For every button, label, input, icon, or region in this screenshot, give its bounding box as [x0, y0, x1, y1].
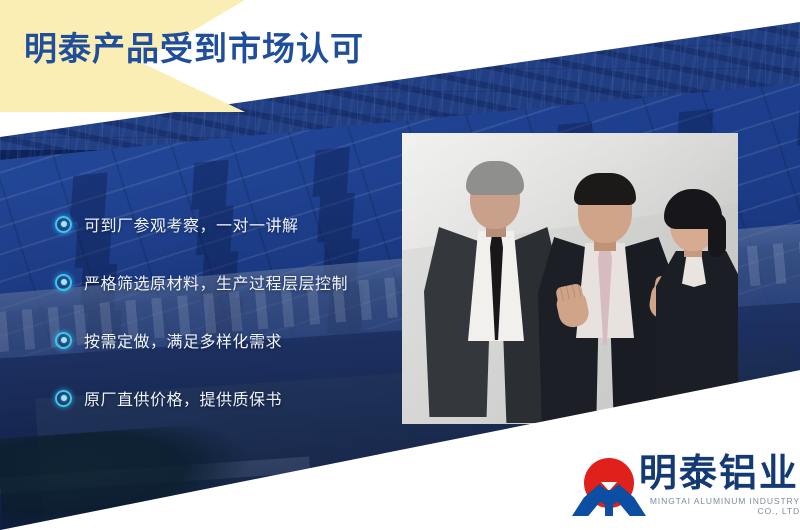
list-item: 按需定做，满足多样化需求	[55, 328, 395, 352]
company-name-cn: 明泰铝业	[639, 454, 800, 492]
feature-text: 按需定做，满足多样化需求	[84, 328, 282, 352]
hair	[466, 161, 524, 195]
page-title: 明泰产品受到市场认可	[24, 22, 364, 70]
target-dot-icon	[55, 332, 72, 349]
logo-text-block: 明泰铝业 MINGTAI ALUMINUM INDUSTRY CO., LTD	[639, 454, 800, 516]
target-dot-icon	[55, 216, 72, 233]
feature-list: 可到厂参观考察，一对一讲解 严格筛选原材料，生产过程层层控制 按需定做，满足多样…	[55, 212, 395, 444]
target-dot-icon	[55, 274, 72, 291]
feature-text: 可到厂参观考察，一对一讲解	[84, 212, 299, 236]
list-item: 可到厂参观考察，一对一讲解	[55, 212, 395, 236]
list-item: 原厂直供价格，提供质保书	[55, 386, 395, 410]
hair	[574, 173, 636, 205]
mountain-stem	[605, 490, 613, 516]
feature-text: 严格筛选原材料，生产过程层层控制	[84, 270, 348, 294]
mountain-crossbar	[598, 495, 620, 500]
mingtai-sun-mountain-icon	[572, 458, 633, 516]
business-people-photo	[402, 133, 738, 424]
feature-text: 原厂直供价格，提供质保书	[84, 386, 282, 410]
hair-ponytail	[708, 213, 726, 257]
target-dot-icon	[55, 390, 72, 407]
company-name-en: MINGTAI ALUMINUM INDUSTRY CO., LTD	[639, 496, 800, 516]
promo-banner: 明泰产品受到市场认可 可到厂参观考察，一对一讲解 严格筛选原材料，生产过程层层控…	[0, 0, 800, 530]
list-item: 严格筛选原材料，生产过程层层控制	[55, 270, 395, 294]
company-logo: 明泰铝业 MINGTAI ALUMINUM INDUSTRY CO., LTD	[572, 454, 800, 516]
